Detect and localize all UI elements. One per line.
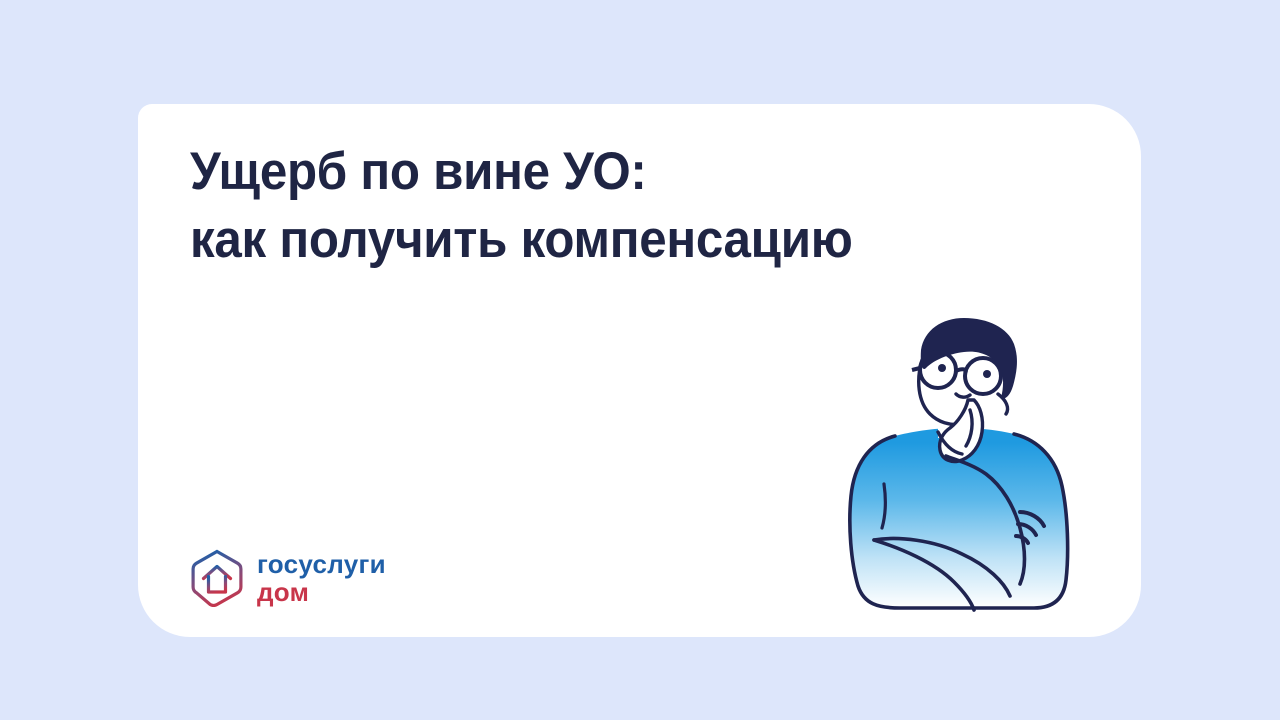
logo-wordmark: госуслуги дом bbox=[257, 550, 386, 606]
thinking-man-illustration bbox=[838, 314, 1078, 614]
slide-root: Ущерб по вине УО: как получить компенсац… bbox=[0, 0, 1280, 720]
title-line-2: как получить компенсацию bbox=[190, 206, 934, 274]
gosuslugi-dom-logo[interactable]: госуслуги дом bbox=[190, 549, 386, 607]
logo-word-dom: дом bbox=[257, 578, 386, 606]
content-card: Ущерб по вине УО: как получить компенсац… bbox=[138, 104, 1141, 637]
title-line-1: Ущерб по вине УО: bbox=[190, 138, 934, 206]
logo-word-gosuslugi: госуслуги bbox=[257, 550, 386, 578]
house-body bbox=[209, 577, 226, 593]
gosuslugi-dom-house-hexagon-icon bbox=[190, 549, 244, 607]
page-title: Ущерб по вине УО: как получить компенсац… bbox=[190, 138, 990, 274]
right-pupil bbox=[983, 370, 991, 378]
hexagon-outline bbox=[193, 552, 241, 606]
left-pupil bbox=[938, 364, 946, 372]
